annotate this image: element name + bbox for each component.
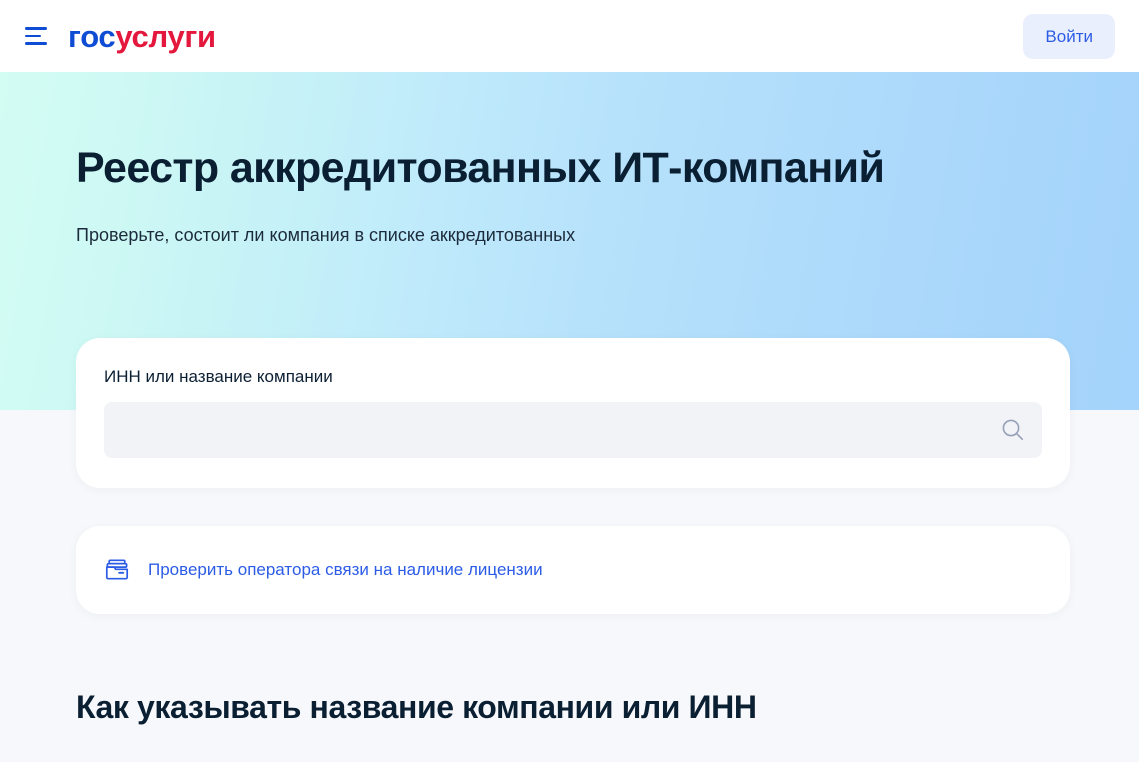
file-box-icon [104,557,130,583]
logo-text-gos: гос [68,19,115,54]
license-card[interactable]: Проверить оператора связи на наличие лиц… [76,526,1070,614]
login-button[interactable]: Войти [1023,14,1115,59]
section-heading-how-to: Как указывать название компании или ИНН [76,688,1070,726]
hamburger-menu-icon[interactable] [16,16,56,56]
page-title: Реестр аккредитованных ИТ-компаний [76,144,1063,193]
search-field-label: ИНН или название компании [104,366,1042,388]
license-link-label: Проверить оператора связи на наличие лиц… [148,559,543,581]
search-icon[interactable] [1000,417,1026,443]
page-subtitle: Проверьте, состоит ли компания в списке … [76,223,1063,248]
cards-container: ИНН или название компании [76,338,1070,614]
hamburger-bar-top [25,27,47,30]
search-card: ИНН или название компании [76,338,1070,488]
search-field-wrapper[interactable] [104,402,1042,458]
page-root: госуслуги Войти Реестр аккредитованных И… [0,0,1139,762]
hero-content: Реестр аккредитованных ИТ-компаний Прове… [0,72,1139,249]
search-input[interactable] [104,402,1042,458]
license-check-link[interactable]: Проверить оператора связи на наличие лиц… [104,557,543,583]
hamburger-bar-middle [25,35,41,38]
logo-text-uslugi: услуги [115,19,215,54]
gosuslugi-logo[interactable]: госуслуги [68,21,216,52]
site-header: госуслуги Войти [0,0,1139,72]
hamburger-bar-bottom [25,42,47,45]
